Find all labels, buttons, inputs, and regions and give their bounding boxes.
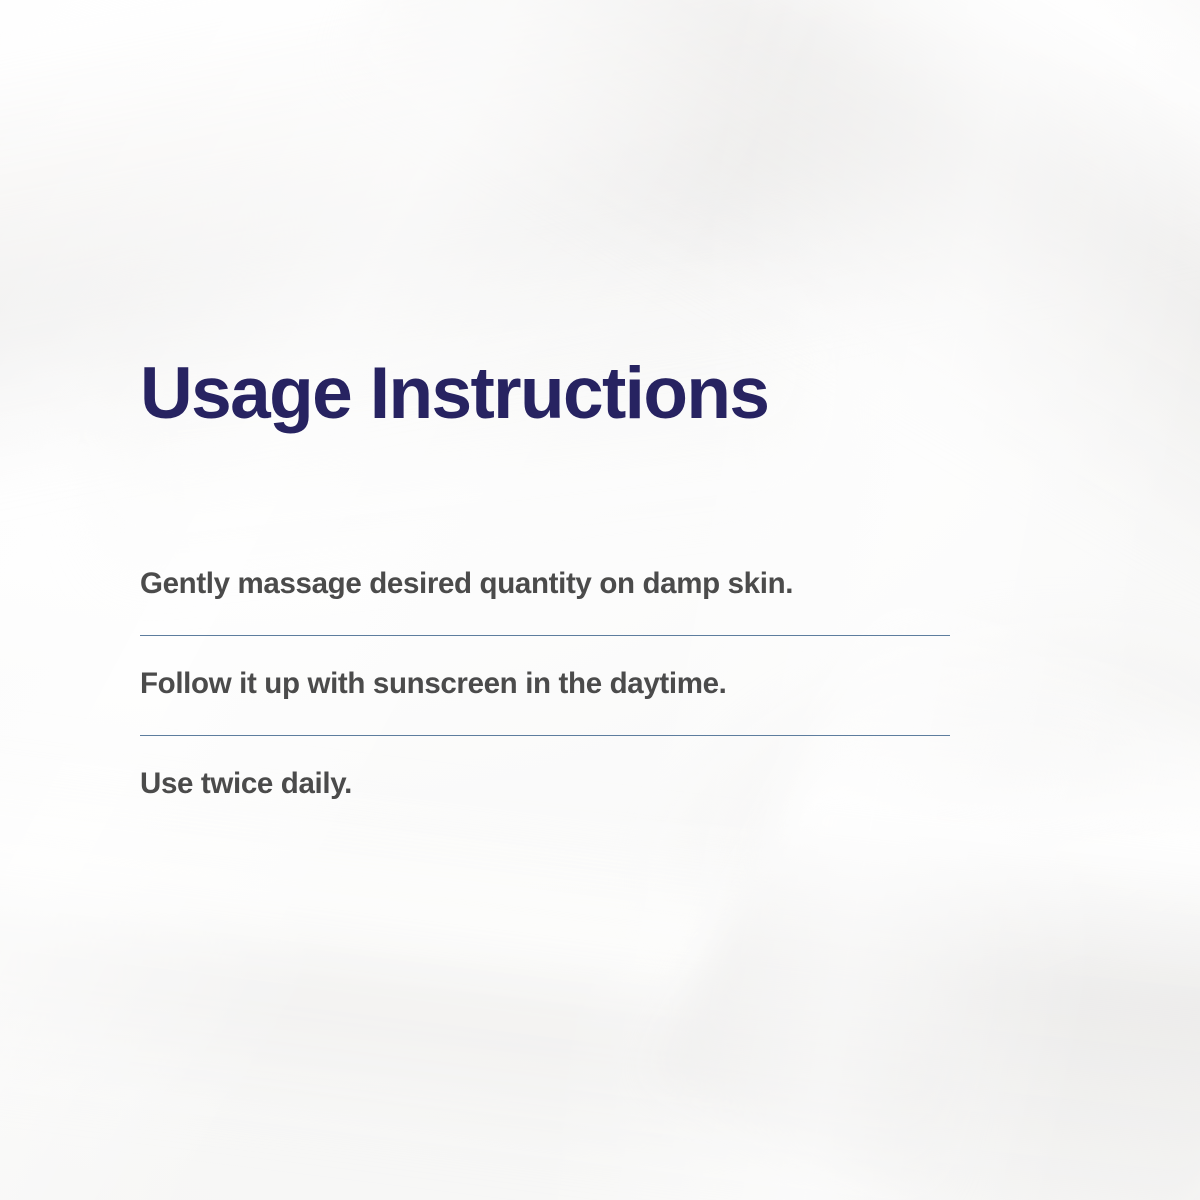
instruction-step-text: Follow it up with sunscreen in the dayti… bbox=[140, 636, 950, 703]
instruction-step-text: Use twice daily. bbox=[140, 736, 950, 803]
list-item: Gently massage desired quantity on damp … bbox=[140, 552, 950, 636]
content-column: Usage Instructions Gently massage desire… bbox=[140, 0, 950, 1200]
list-item: Follow it up with sunscreen in the dayti… bbox=[140, 636, 950, 736]
usage-instructions-panel: Usage Instructions Gently massage desire… bbox=[0, 0, 1200, 1200]
instruction-list: Gently massage desired quantity on damp … bbox=[140, 552, 950, 803]
instruction-step-text: Gently massage desired quantity on damp … bbox=[140, 552, 950, 603]
page-title: Usage Instructions bbox=[140, 357, 768, 430]
list-item: Use twice daily. bbox=[140, 736, 950, 803]
